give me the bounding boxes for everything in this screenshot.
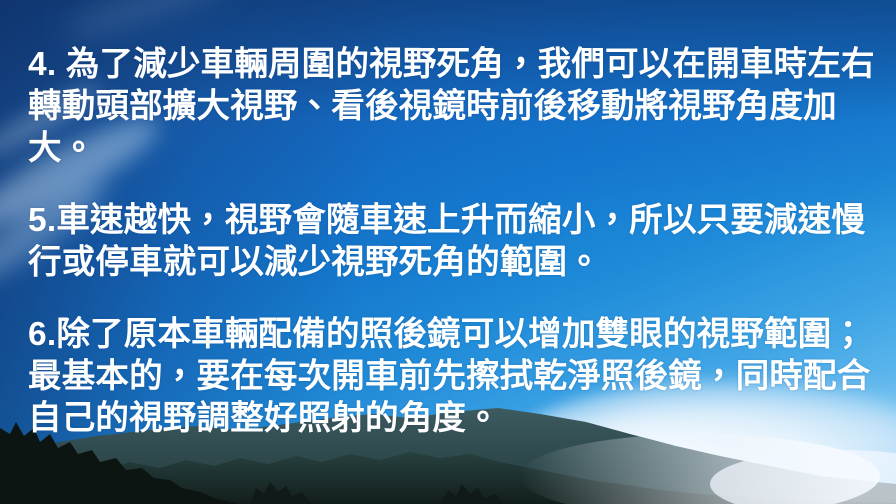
- slide-text-block: 4. 為了減少車輛周圍的視野死角，我們可以在開車時左右轉動頭部擴大視野、看後視鏡…: [0, 0, 896, 504]
- slide-canvas: 4. 為了減少車輛周圍的視野死角，我們可以在開車時左右轉動頭部擴大視野、看後視鏡…: [0, 0, 896, 504]
- paragraph-tip-4: 4. 為了減少車輛周圍的視野死角，我們可以在開車時左右轉動頭部擴大視野、看後視鏡…: [28, 44, 880, 170]
- paragraph-tip-6: 6.除了原本車輛配備的照後鏡可以增加雙眼的視野範圍；最基本的，要在每次開車前先擦…: [28, 314, 880, 440]
- paragraph-tip-5: 5.車速越快，視野會隨車速上升而縮小，所以只要減速慢行或停車就可以減少視野死角的…: [28, 200, 880, 284]
